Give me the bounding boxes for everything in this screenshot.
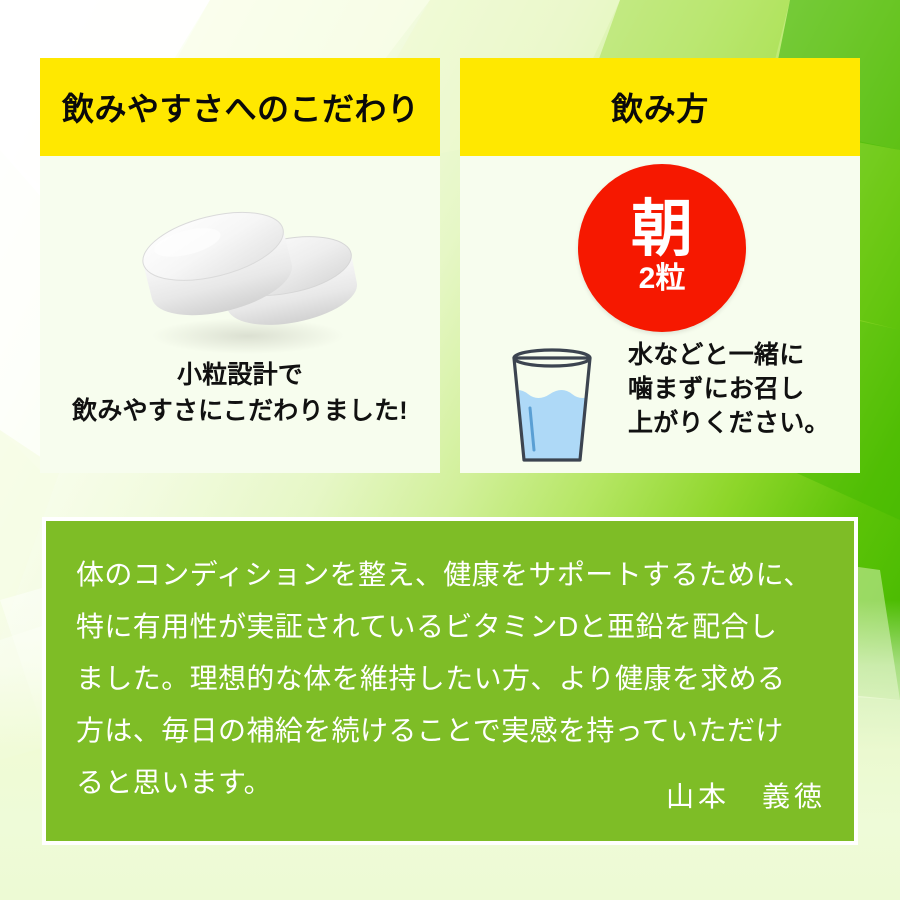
card-tablet-body: 小粒設計で 飲みやすさにこだわりました! [40, 156, 440, 473]
quote-line-1: 体のコンディションを整え、健康をサポートするために、 [76, 549, 830, 601]
card-how-header: 飲み方 [460, 58, 860, 156]
instruction-line-3: 上がりください。 [628, 406, 854, 440]
dose-badge-time: 朝 [631, 200, 693, 260]
card-how-to-take: 飲み方 朝 2粒 [460, 58, 860, 473]
card-tablet-title: 飲みやすさへのこだわり [40, 84, 420, 130]
card-tablet-caption: 小粒設計で 飲みやすさにこだわりました! [40, 358, 440, 429]
promo-panel: 飲みやすさへのこだわり [0, 0, 900, 900]
quote-line-2: 特に有用性が実証されているビタミンDと亜鉛を配合し [76, 601, 830, 653]
glass-of-water-icon [496, 346, 608, 473]
expert-comment-text: 体のコンディションを整え、健康をサポートするために、 特に有用性が実証されている… [76, 549, 830, 809]
quote-line-3: ました。理想的な体を維持したい方、より健康を求める [76, 653, 830, 705]
instruction-line-2: 噛まずにお召し [628, 372, 854, 406]
how-to-take-instructions: 水などと一緒に 噛まずにお召し 上がりください。 [628, 338, 854, 440]
instruction-line-1: 水などと一緒に [628, 338, 854, 372]
card-how-body: 朝 2粒 水などと一緒に [460, 156, 860, 473]
tablet-caption-line-2: 飲みやすさにこだわりました! [40, 394, 440, 430]
card-tablet-header: 飲みやすさへのこだわり [40, 58, 440, 156]
quote-line-4: 方は、毎日の補給を続けることで実感を持っていただけ [76, 705, 830, 757]
two-white-tablets-icon [120, 170, 360, 360]
expert-signature: 山本 義徳 [666, 775, 826, 815]
dose-badge: 朝 2粒 [578, 164, 746, 332]
dose-badge-count: 2粒 [639, 264, 686, 294]
tablet-caption-line-1: 小粒設計で [40, 358, 440, 394]
expert-comment-box: 体のコンディションを整え、健康をサポートするために、 特に有用性が実証されている… [42, 517, 858, 845]
card-tablet-design: 飲みやすさへのこだわり [40, 58, 440, 473]
card-how-title: 飲み方 [611, 84, 709, 130]
